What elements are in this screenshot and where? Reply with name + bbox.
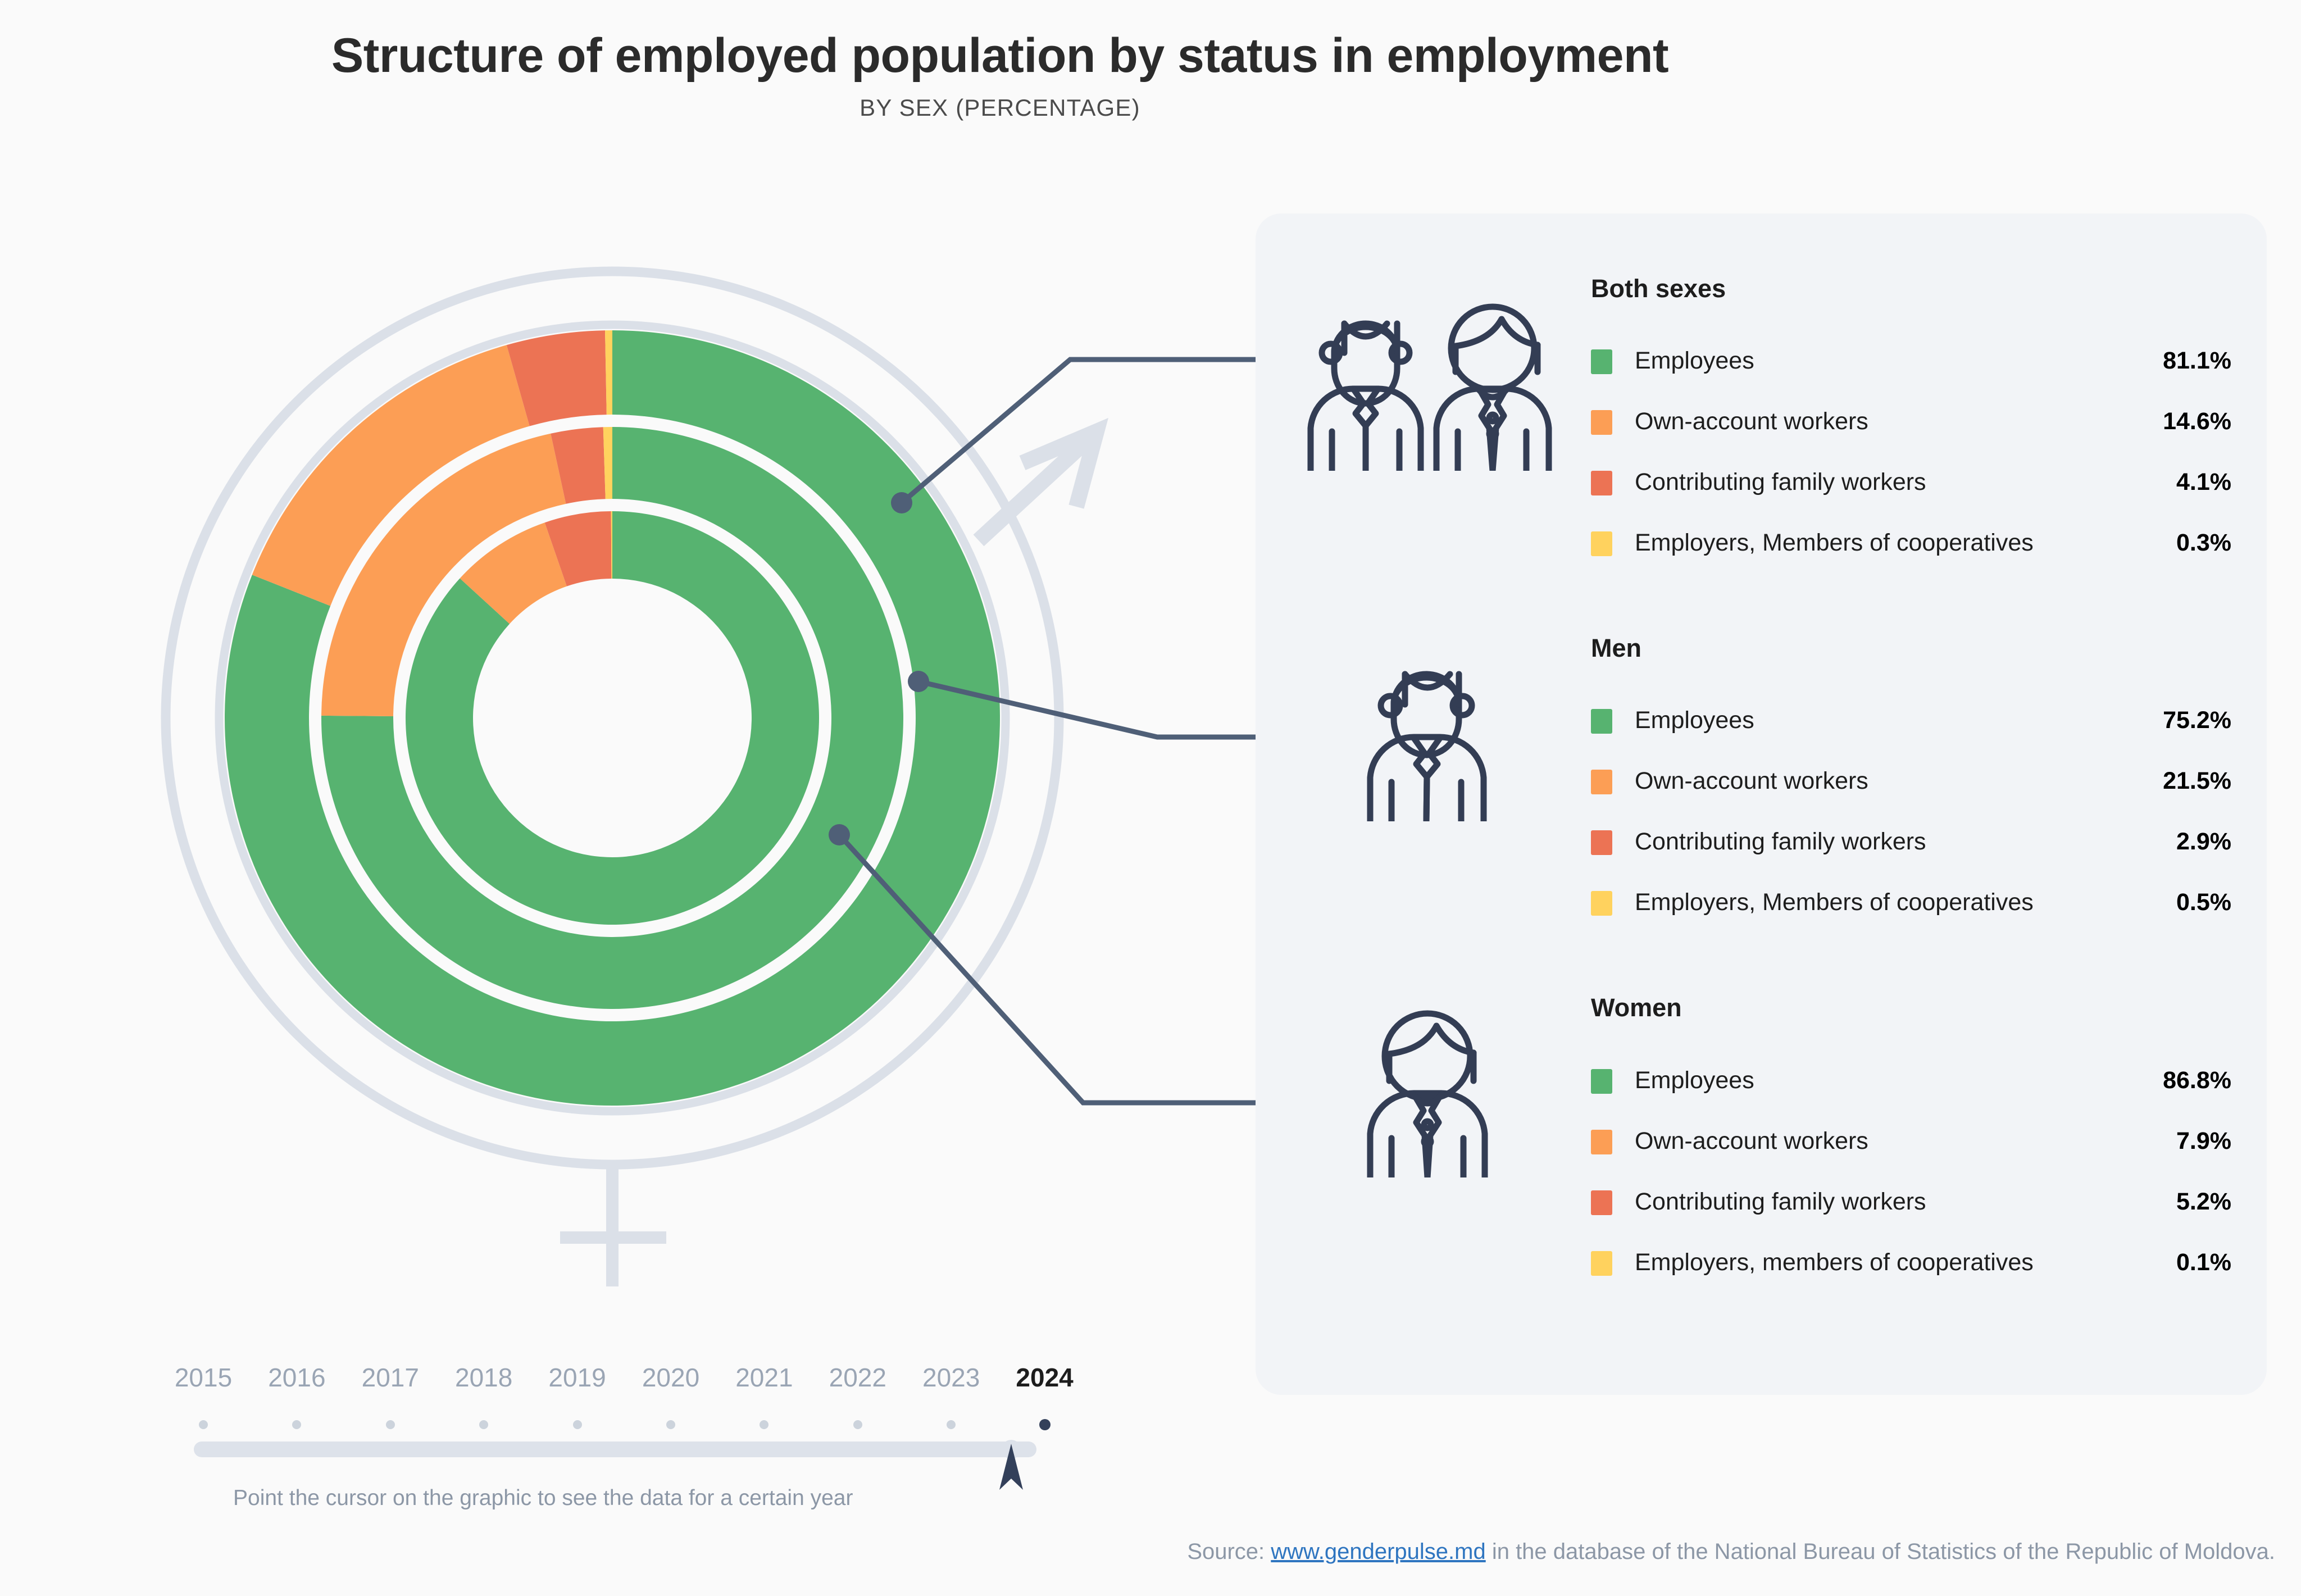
legend-label: Contributing family workers (1635, 1186, 1926, 1217)
year-dot-2024[interactable] (1039, 1419, 1051, 1430)
legend-label: Contributing family workers (1635, 466, 1926, 498)
year-dot-2018[interactable] (479, 1420, 488, 1429)
legend-value: 0.1% (2176, 1247, 2231, 1278)
year-dot-2019[interactable] (573, 1420, 582, 1429)
legend-row[interactable]: Employees 75.2% (1591, 704, 2231, 736)
year-labels[interactable]: 2015201620172018201920202021202220232024 (180, 1362, 1056, 1402)
legend-label: Employees (1635, 345, 1754, 376)
legend-label: Employers, Members of cooperatives (1635, 527, 2034, 558)
year-label-2024[interactable]: 2024 (1016, 1362, 1073, 1393)
both-sexes-icon (1303, 280, 1561, 471)
legend-row[interactable]: Contributing family workers 4.1% (1591, 466, 2231, 498)
year-dot-2021[interactable] (760, 1420, 768, 1429)
legend-row[interactable]: Contributing family workers 5.2% (1591, 1186, 2231, 1217)
year-dot-2016[interactable] (292, 1420, 301, 1429)
legend-label: Own-account workers (1635, 765, 1868, 797)
year-label-2020[interactable]: 2020 (642, 1362, 699, 1393)
legend-row[interactable]: Employers, members of cooperatives 0.1% (1591, 1247, 2231, 1278)
legend-value: 21.5% (2163, 765, 2231, 797)
legend-swatch-employees (1591, 709, 1612, 734)
legend-row[interactable]: Employers, Members of cooperatives 0.5% (1591, 886, 2231, 918)
chart-page: Structure of employed population by stat… (0, 0, 2301, 1596)
year-dots[interactable] (180, 1420, 1056, 1435)
legend-heading-men: Men (1591, 634, 1641, 663)
man-icon (1367, 636, 1496, 821)
year-label-2015[interactable]: 2015 (175, 1362, 232, 1393)
year-label-2023[interactable]: 2023 (922, 1362, 980, 1393)
year-label-2019[interactable]: 2019 (548, 1362, 606, 1393)
timeline-track[interactable] (194, 1442, 1036, 1457)
year-dot-2015[interactable] (199, 1420, 208, 1429)
legend-label: Employees (1635, 1065, 1754, 1096)
ring-women[interactable] (406, 511, 819, 925)
legend-swatch-own-account (1591, 410, 1612, 435)
legend-label: Employees (1635, 704, 1754, 736)
legend-value: 2.9% (2176, 826, 2231, 857)
legend-value: 75.2% (2163, 704, 2231, 736)
legend-swatch-contributing-family (1591, 471, 1612, 495)
legend-swatch-own-account (1591, 770, 1612, 794)
legend-swatch-employers (1591, 1251, 1612, 1276)
legend-label: Employers, Members of cooperatives (1635, 886, 2034, 918)
legend-value: 14.6% (2163, 406, 2231, 437)
legend-swatch-employees (1591, 349, 1612, 374)
woman-icon (1367, 992, 1496, 1177)
year-label-2022[interactable]: 2022 (829, 1362, 886, 1393)
legend-value: 0.3% (2176, 527, 2231, 558)
year-label-2016[interactable]: 2016 (268, 1362, 325, 1393)
legend-label: Own-account workers (1635, 1125, 1868, 1157)
legend-swatch-employees (1591, 1069, 1612, 1094)
legend-row[interactable]: Employees 86.8% (1591, 1065, 2231, 1096)
legend-label: Contributing family workers (1635, 826, 1926, 857)
legend-label: Employers, members of cooperatives (1635, 1247, 2034, 1278)
source-link[interactable]: www.genderpulse.md (1271, 1539, 1485, 1564)
year-dot-2017[interactable] (386, 1420, 395, 1429)
legend-heading-women: Women (1591, 993, 1682, 1022)
year-label-2021[interactable]: 2021 (735, 1362, 793, 1393)
source-suffix: in the database of the National Bureau o… (1486, 1539, 2275, 1564)
legend-row[interactable]: Employers, Members of cooperatives 0.3% (1591, 527, 2231, 558)
timeline-hint: Point the cursor on the graphic to see t… (233, 1486, 853, 1511)
source-note: Source: www.genderpulse.md in the databa… (1187, 1539, 2275, 1565)
female-symbol-icon (560, 1165, 666, 1286)
legend-row[interactable]: Own-account workers 7.9% (1591, 1125, 2231, 1157)
legend-row[interactable]: Contributing family workers 2.9% (1591, 826, 2231, 857)
timeline-handle[interactable] (986, 1427, 1036, 1494)
legend-value: 0.5% (2176, 886, 2231, 918)
year-label-2017[interactable]: 2017 (362, 1362, 419, 1393)
legend-value: 81.1% (2163, 345, 2231, 376)
legend-heading-both-sexes: Both sexes (1591, 274, 1726, 303)
legend-swatch-employers (1591, 891, 1612, 916)
legend-panel: Both sexes Employees 81.1% Own-account w… (1256, 213, 2267, 1395)
legend-value: 5.2% (2176, 1186, 2231, 1217)
year-dot-2022[interactable] (853, 1420, 862, 1429)
legend-row[interactable]: Own-account workers 21.5% (1591, 765, 2231, 797)
legend-swatch-employers (1591, 531, 1612, 556)
legend-value: 7.9% (2176, 1125, 2231, 1157)
year-dot-2020[interactable] (666, 1420, 675, 1429)
year-dot-2023[interactable] (947, 1420, 956, 1429)
legend-label: Own-account workers (1635, 406, 1868, 437)
legend-value: 86.8% (2163, 1065, 2231, 1096)
legend-value: 4.1% (2176, 466, 2231, 498)
legend-row[interactable]: Own-account workers 14.6% (1591, 406, 2231, 437)
legend-row[interactable]: Employees 81.1% (1591, 345, 2231, 376)
legend-swatch-own-account (1591, 1130, 1612, 1154)
legend-swatch-contributing-family (1591, 830, 1612, 855)
source-prefix: Source: (1187, 1539, 1271, 1564)
year-label-2018[interactable]: 2018 (455, 1362, 512, 1393)
legend-swatch-contributing-family (1591, 1190, 1612, 1215)
